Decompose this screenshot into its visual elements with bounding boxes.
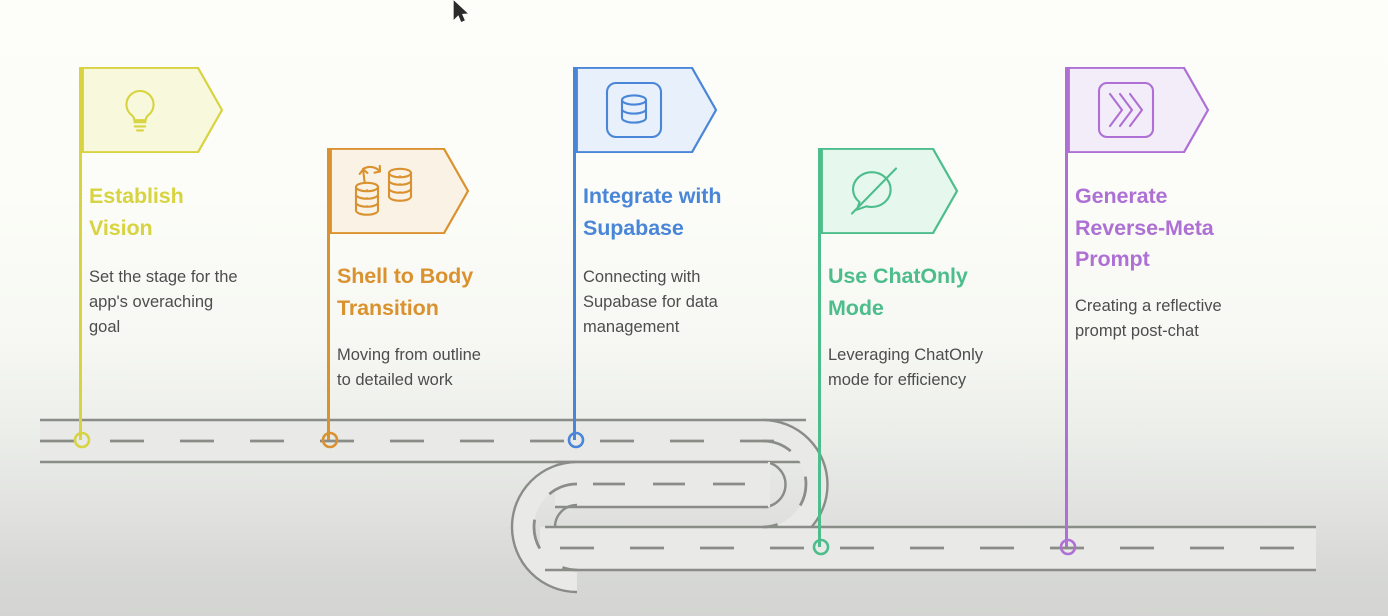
chat-bubble-slash-icon (846, 162, 908, 220)
milestone-road-marker-establish-vision[interactable] (71, 429, 93, 456)
flag-icon-slot (82, 67, 198, 153)
flag-icon-slot (576, 67, 692, 153)
flag-icon-slot (821, 148, 933, 234)
road-marker (810, 536, 832, 558)
milestone-description: Set the stage for the app's overaching g… (89, 265, 289, 340)
milestone-road-marker-generate-reverse-meta-prompt[interactable] (1057, 536, 1079, 563)
milestone-description: Moving from outline to detailed work (337, 343, 537, 393)
flag[interactable] (330, 148, 470, 234)
milestone-title: Generate Reverse-Meta Prompt (1075, 181, 1275, 276)
triple-chevron-icon (1095, 79, 1157, 141)
lightbulb-icon (112, 82, 168, 138)
milestone-title: Establish Vision (89, 181, 289, 244)
flag[interactable] (1068, 67, 1210, 153)
milestone-title: Use ChatOnly Mode (828, 261, 1028, 324)
milestone-description: Connecting with Supabase for data manage… (583, 265, 783, 340)
flag-icon-slot (1068, 67, 1184, 153)
milestone-road-marker-use-chatonly-mode[interactable] (810, 536, 832, 563)
flag[interactable] (821, 148, 959, 234)
flag[interactable] (576, 67, 718, 153)
road-marker (319, 429, 341, 451)
road-marker (71, 429, 93, 451)
road-marker (1057, 536, 1079, 558)
roadmap-canvas: Establish VisionSet the stage for the ap… (0, 0, 1388, 616)
milestone-road-marker-integrate-with-supabase[interactable] (565, 429, 587, 456)
flag-icon-slot (330, 148, 444, 234)
milestone-description: Leveraging ChatOnly mode for efficiency (828, 343, 1028, 393)
flag[interactable] (82, 67, 224, 153)
database-cylinder-icon (603, 79, 665, 141)
database-migration-icon (350, 163, 424, 219)
milestone-description: Creating a reflective prompt post-chat (1075, 294, 1275, 344)
road-marker (565, 429, 587, 451)
milestone-road-marker-shell-to-body-transition[interactable] (319, 429, 341, 456)
milestone-title: Integrate with Supabase (583, 181, 783, 244)
milestone-title: Shell to Body Transition (337, 261, 537, 324)
